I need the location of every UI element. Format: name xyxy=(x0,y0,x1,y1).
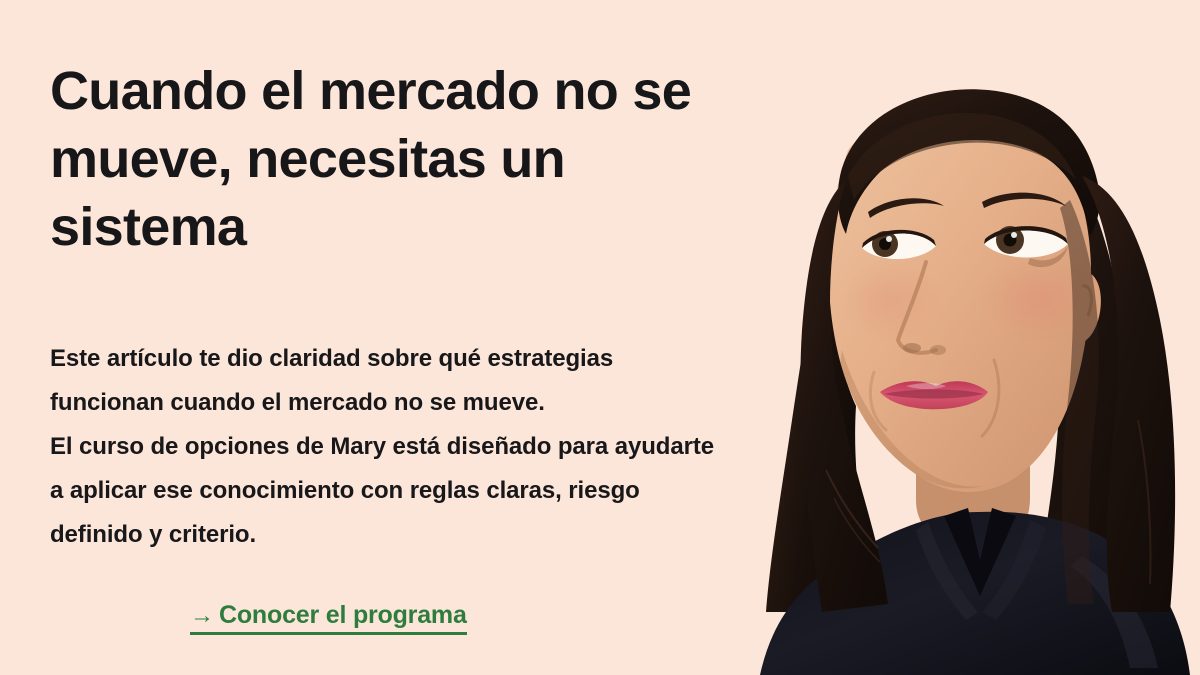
page-title: Cuando el mercado no se mueve, necesitas… xyxy=(50,57,710,261)
arrow-right-icon: → xyxy=(190,602,214,629)
cta-label: Conocer el programa xyxy=(219,601,467,629)
portrait-image xyxy=(730,0,1200,675)
body-paragraph: Este artículo te dio claridad sobre qué … xyxy=(50,337,715,557)
cta-container: →Conocer el programa xyxy=(190,601,610,635)
cta-link-conocer-el-programa[interactable]: →Conocer el programa xyxy=(190,601,467,635)
text-column: Cuando el mercado no se mueve, necesitas… xyxy=(50,0,710,675)
promo-slide: Cuando el mercado no se mueve, necesitas… xyxy=(0,0,1200,675)
